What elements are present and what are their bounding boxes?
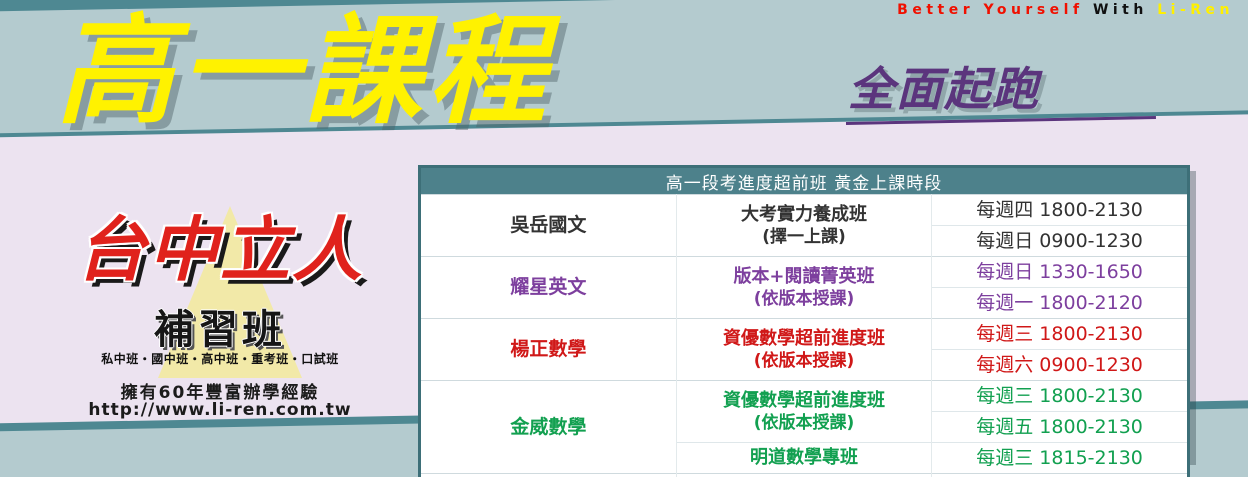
schedule-table-header-row: 高一段考進度超前班 黃金上課時段 <box>421 168 1187 195</box>
logo-kind-label: 補習班 <box>40 308 400 352</box>
logo-website-url: http://www.li-ren.com.tw <box>40 400 400 420</box>
course-name-cell: 版本+閱讀菁英班(依版本授課) <box>676 257 931 319</box>
schedule-row: 吳岳國文大考實力養成班(擇一上課)每週四 1800-2130 <box>421 195 1187 226</box>
course-note: (擇一上課) <box>762 227 846 247</box>
schedule-row: 金威數學資優數學超前進度班(依版本授課)每週三 1800-2130 <box>421 381 1187 412</box>
course-name-cell: 資優數學超前進度班(依版本授課) <box>676 381 931 443</box>
tagline-yellow-text: Li-Ren <box>1157 2 1234 18</box>
class-time-cell: 每週日 1330-1650 <box>932 257 1187 288</box>
logo-class-tags: 私中班・國中班・高中班・重考班・口試班 <box>40 350 400 367</box>
teacher-name-cell: 金威數學 <box>421 381 676 474</box>
class-time-cell: 每週三 1815-2130 <box>932 443 1187 474</box>
course-name-cell: 必修物理資優班 <box>676 474 931 477</box>
logo-brand-name: 台中立人 <box>40 212 400 288</box>
page-subtitle: 全面起跑 <box>848 64 1040 114</box>
tagline-black-text: With <box>1093 2 1148 18</box>
schedule-table-panel: 高一段考進度超前班 黃金上課時段 吳岳國文大考實力養成班(擇一上課)每週四 18… <box>418 165 1190 477</box>
class-time-cell: 每週日 0900-1230 <box>932 226 1187 257</box>
tagline-red-text: Better Yourself <box>897 2 1083 18</box>
schedule-row: 楊正數學資優數學超前進度班(依版本授課)每週三 1800-2130 <box>421 319 1187 350</box>
class-time-cell: 每週二 1800-2120 <box>932 474 1187 477</box>
promo-banner: Better Yourself With Li-Ren 高一課程 全面起跑 台中… <box>0 0 1248 477</box>
tagline: Better Yourself With Li-Ren <box>897 2 1234 18</box>
course-note: (依版本授課) <box>754 413 855 433</box>
course-name-cell: 資優數學超前進度班(依版本授課) <box>676 319 931 381</box>
schedule-table-header: 高一段考進度超前班 黃金上課時段 <box>421 168 1187 195</box>
schedule-row: 耀星英文版本+閱讀菁英班(依版本授課)每週日 1330-1650 <box>421 257 1187 288</box>
class-time-cell: 每週五 1800-2130 <box>932 412 1187 443</box>
course-name-cell: 大考實力養成班(擇一上課) <box>676 195 931 257</box>
school-logo: 台中立人 補習班 私中班・國中班・高中班・重考班・口試班 擁有60年豐富辦學經驗… <box>40 200 400 430</box>
teacher-name-cell: 耀星英文 <box>421 257 676 319</box>
page-title: 高一課程 <box>56 12 552 130</box>
class-time-cell: 每週三 1800-2130 <box>932 381 1187 412</box>
schedule-row: 陳碩物理必修物理資優班每週二 1800-2120 <box>421 474 1187 477</box>
class-time-cell: 每週三 1800-2130 <box>932 319 1187 350</box>
course-note: (依版本授課) <box>754 351 855 371</box>
teacher-name-cell: 吳岳國文 <box>421 195 676 257</box>
course-note: (依版本授課) <box>754 289 855 309</box>
course-name-cell: 明道數學專班 <box>676 443 931 474</box>
class-time-cell: 每週四 1800-2130 <box>932 195 1187 226</box>
teacher-name-cell: 楊正數學 <box>421 319 676 381</box>
schedule-table: 高一段考進度超前班 黃金上課時段 吳岳國文大考實力養成班(擇一上課)每週四 18… <box>421 168 1187 477</box>
class-time-cell: 每週一 1800-2120 <box>932 288 1187 319</box>
class-time-cell: 每週六 0900-1230 <box>932 350 1187 381</box>
teacher-name-cell: 陳碩物理 <box>421 474 676 477</box>
schedule-table-body: 吳岳國文大考實力養成班(擇一上課)每週四 1800-2130每週日 0900-1… <box>421 195 1187 477</box>
